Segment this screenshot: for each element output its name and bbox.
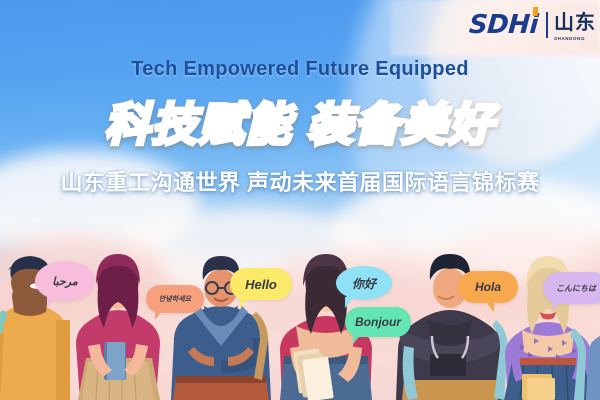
headline-english: Tech Empowered Future Equipped <box>0 58 600 81</box>
event-subtitle: 山东重工沟通世界 声动未来首届国际语言锦标赛 <box>0 165 600 197</box>
logo-chinese-name: 山东 <box>554 13 596 33</box>
logo-chinese-block: 山东 SHANDONG <box>554 12 596 42</box>
speech-bubble-spanish-text: Hola <box>475 280 501 294</box>
logo-divider <box>546 12 548 38</box>
speech-bubble-japanese-text: こんにちは <box>556 283 596 294</box>
speech-bubble-english-text: Hello <box>245 277 277 292</box>
logo-accent-dot <box>533 7 539 16</box>
speech-bubble-chinese-text: 你好 <box>352 275 376 292</box>
speech-bubble-japanese: こんにちは <box>543 272 600 304</box>
bubble-tail-icon <box>484 300 494 312</box>
speech-bubble-chinese: 你好 <box>336 266 392 300</box>
speech-bubble-korean-text: 안녕하세요 <box>159 294 191 304</box>
speech-bubble-arabic-text: مرحبا <box>52 275 77 288</box>
speech-bubble-korean: 안녕하세요 <box>146 285 204 313</box>
speech-bubble-french: Bonjour <box>345 307 411 337</box>
headline-chinese: 科技赋能 装备美好 <box>0 88 600 153</box>
brand-logo[interactable]: SDHi 山东 SHANDONG <box>469 12 596 42</box>
logo-chinese-pinyin: SHANDONG <box>554 37 596 42</box>
bubble-tail-icon <box>353 334 361 344</box>
logo-wordmark-text: SDHi <box>468 10 539 40</box>
logo-wordmark: SDHi <box>468 12 539 38</box>
poster-banner: SDHi 山东 SHANDONG Tech Empowered Future E… <box>0 0 600 400</box>
bubble-tail-icon <box>47 297 56 309</box>
bubble-tail-icon <box>240 297 249 308</box>
speech-bubble-arabic: مرحبا <box>35 261 95 301</box>
speech-bubble-french-text: Bonjour <box>355 315 401 329</box>
speech-bubble-english: Hello <box>230 268 292 300</box>
bubble-tail-icon <box>553 301 561 311</box>
speech-bubble-spanish: Hola <box>458 271 518 303</box>
bubble-tail-icon <box>345 297 354 308</box>
bubble-tail-icon <box>155 310 163 320</box>
